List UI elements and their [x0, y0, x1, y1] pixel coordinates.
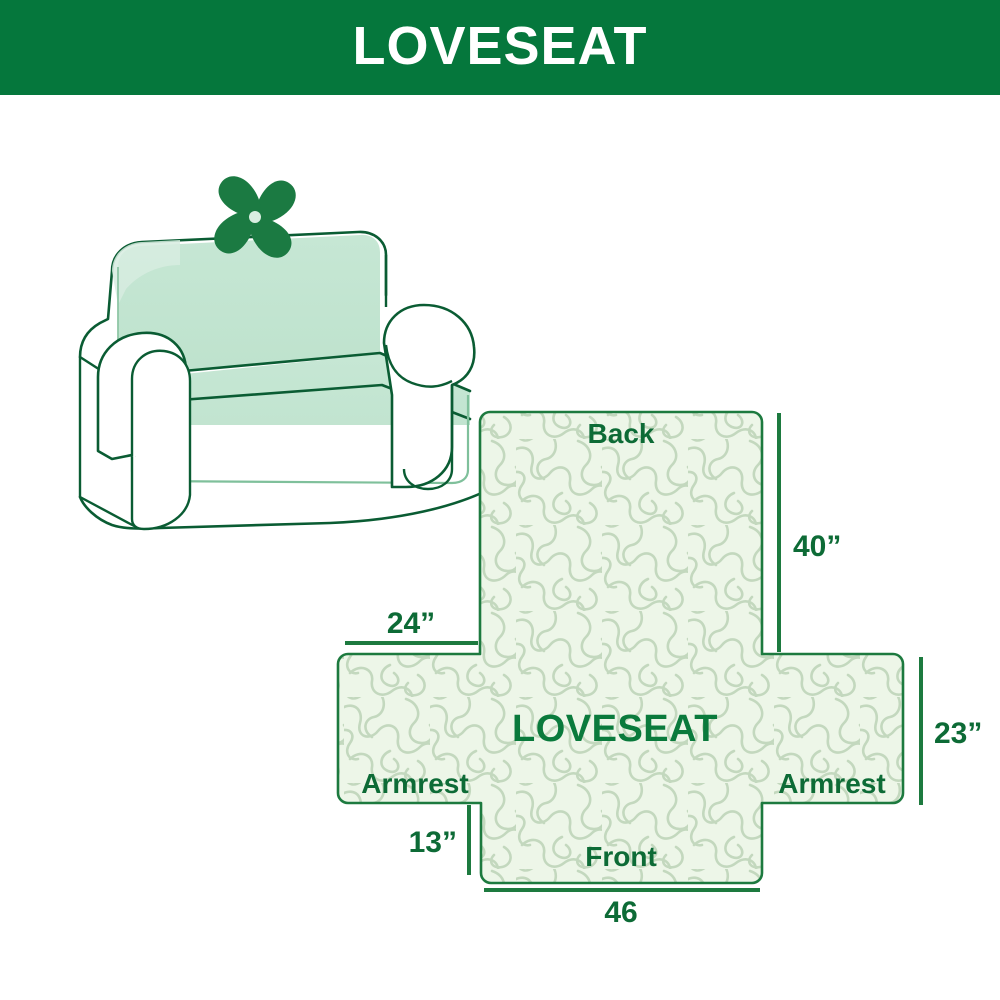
product-dimension-infographic: LOVESEAT: [0, 0, 1000, 1000]
diagram-svg: [0, 95, 1000, 1000]
loveseat-illustration: [80, 176, 500, 529]
header-banner: LOVESEAT: [0, 0, 1000, 95]
sofa-left-arm-roll: [132, 351, 190, 457]
diagram-stage: Back Armrest Armrest Front LOVESEAT 40” …: [0, 95, 1000, 1000]
page-title: LOVESEAT: [352, 19, 647, 73]
